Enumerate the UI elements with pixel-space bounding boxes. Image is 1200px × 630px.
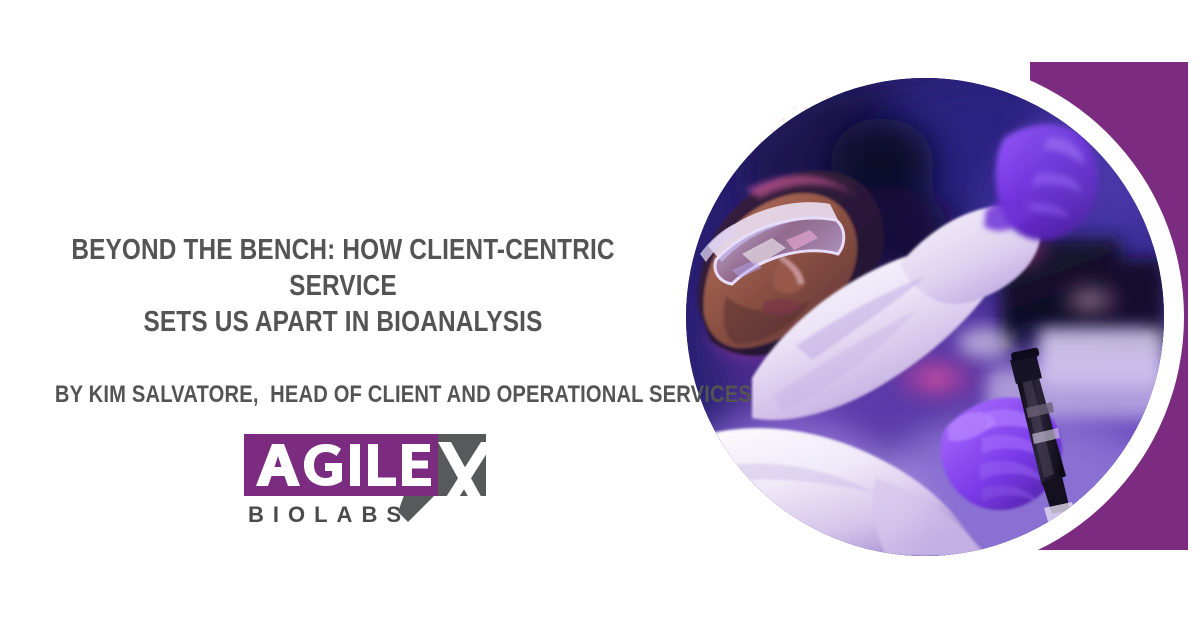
byline: BY KIM SALVATORE, HEAD OF CLIENT AND OPE… bbox=[55, 340, 631, 410]
logo-subtitle: BIOLABS bbox=[248, 502, 410, 527]
scientist-photo-illustration bbox=[686, 78, 1164, 556]
text-column: BEYOND THE BENCH: HOW CLIENT-CENTRIC SER… bbox=[0, 232, 686, 410]
headline: BEYOND THE BENCH: HOW CLIENT-CENTRIC SER… bbox=[55, 232, 631, 340]
logo-artwork: BIOLABS bbox=[238, 424, 498, 530]
agilex-biolabs-logo: BIOLABS bbox=[238, 424, 498, 530]
scientist-photo bbox=[686, 78, 1164, 556]
social-card: BEYOND THE BENCH: HOW CLIENT-CENTRIC SER… bbox=[0, 0, 1200, 630]
